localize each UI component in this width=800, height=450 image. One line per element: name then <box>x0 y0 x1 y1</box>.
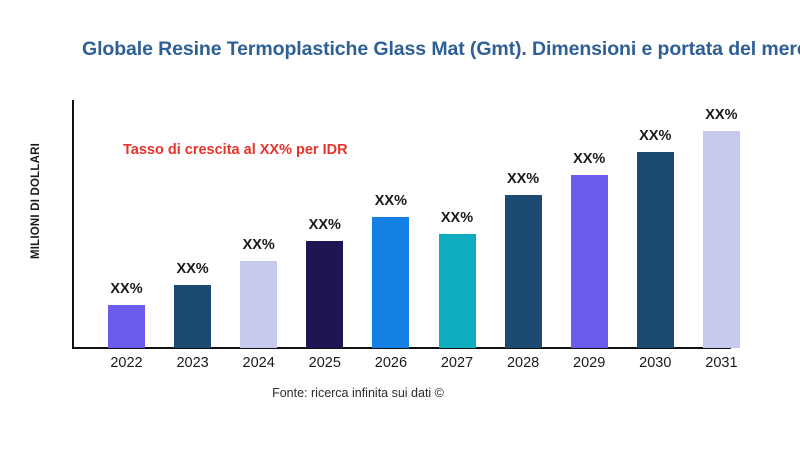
bar-value-label-2031: XX% <box>705 107 737 123</box>
bar-2029[interactable] <box>571 175 608 348</box>
x-tick-label-2031: 2031 <box>705 355 737 371</box>
bar-value-label-2027: XX% <box>441 210 473 226</box>
bar-2031[interactable] <box>703 131 740 348</box>
source-note: Fonte: ricerca infinita sui dati © <box>0 386 716 400</box>
bar-value-label-2029: XX% <box>573 151 605 167</box>
bar-value-label-2028: XX% <box>507 171 539 187</box>
x-tick-label-2023: 2023 <box>176 355 208 371</box>
bar-2026[interactable] <box>372 217 409 348</box>
bar-group: XX%2030 <box>637 0 674 450</box>
bar-value-label-2023: XX% <box>176 261 208 277</box>
bar-group: XX%2025 <box>306 0 343 450</box>
x-tick-label-2022: 2022 <box>110 355 142 371</box>
bar-2025[interactable] <box>306 241 343 348</box>
x-tick-label-2026: 2026 <box>375 355 407 371</box>
bar-2022[interactable] <box>108 305 145 348</box>
bar-value-label-2030: XX% <box>639 128 671 144</box>
x-tick-label-2029: 2029 <box>573 355 605 371</box>
bar-value-label-2026: XX% <box>375 193 407 209</box>
x-tick-label-2024: 2024 <box>243 355 275 371</box>
bar-value-label-2025: XX% <box>309 217 341 233</box>
bar-2028[interactable] <box>505 195 542 348</box>
x-tick-label-2028: 2028 <box>507 355 539 371</box>
bar-group: XX%2029 <box>571 0 608 450</box>
chart-container: Globale Resine Termoplastiche Glass Mat … <box>0 0 800 450</box>
bar-2030[interactable] <box>637 152 674 348</box>
bar-2024[interactable] <box>240 261 277 348</box>
bar-group: XX%2026 <box>372 0 409 450</box>
bar-group: XX%2028 <box>505 0 542 450</box>
bar-value-label-2022: XX% <box>110 281 142 297</box>
bar-group: XX%2031 <box>703 0 740 450</box>
bar-2023[interactable] <box>174 285 211 348</box>
plot-area: XX%2022XX%2023XX%2024XX%2025XX%2026XX%20… <box>0 0 800 450</box>
bar-2027[interactable] <box>439 234 476 348</box>
bar-group: XX%2027 <box>439 0 476 450</box>
bar-value-label-2024: XX% <box>243 237 275 253</box>
bar-group: XX%2024 <box>240 0 277 450</box>
bar-group: XX%2022 <box>108 0 145 450</box>
x-tick-label-2025: 2025 <box>309 355 341 371</box>
x-tick-label-2030: 2030 <box>639 355 671 371</box>
x-tick-label-2027: 2027 <box>441 355 473 371</box>
bar-group: XX%2023 <box>174 0 211 450</box>
